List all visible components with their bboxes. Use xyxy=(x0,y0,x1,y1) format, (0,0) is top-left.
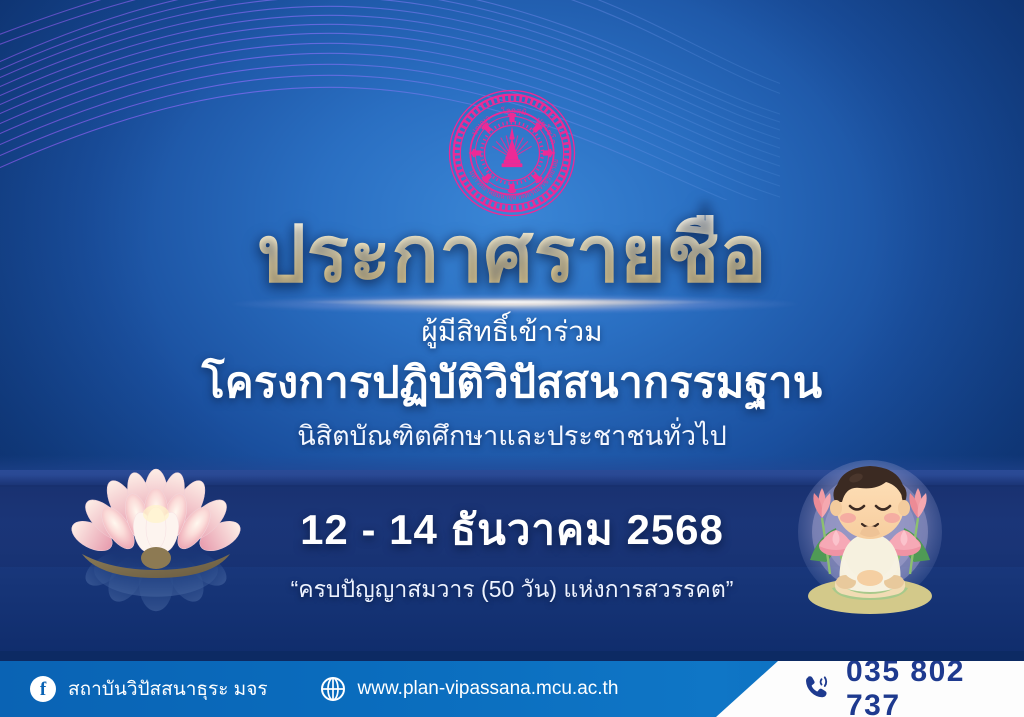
phone-number: 035 802 737 xyxy=(846,655,1024,717)
page-title: ประกาศรายชื่อ xyxy=(0,215,1024,293)
announcement-poster: ปญฺญา โลกสฺมิ ปชฺโชโต มหาวิทยาลัยมหาจุฬา… xyxy=(0,0,1024,717)
subtitle-eligibility: ผู้มีสิทธิ์เข้าร่วม xyxy=(0,315,1024,349)
facebook-icon: f xyxy=(30,676,56,702)
meditating-child-icon xyxy=(788,448,988,640)
lotus-flower-icon xyxy=(62,462,250,652)
footer-website[interactable]: www.plan-vipassana.mcu.ac.th xyxy=(320,676,619,702)
facebook-label: สถาบันวิปัสสนาธุระ มจร xyxy=(68,674,268,704)
phone-ringing-icon xyxy=(802,674,832,704)
footer-divider xyxy=(0,651,1024,661)
website-label: www.plan-vipassana.mcu.ac.th xyxy=(358,678,619,700)
globe-icon xyxy=(320,676,346,702)
footer-facebook[interactable]: f สถาบันวิปัสสนาธุระ มจร xyxy=(30,674,268,704)
subtitle-project-name: โครงการปฏิบัติวิปัสสนากรรมฐาน xyxy=(0,360,1024,407)
mcu-seal-icon: ปญฺญา โลกสฺมิ ปชฺโชโต มหาวิทยาลัยมหาจุฬา… xyxy=(434,88,590,218)
